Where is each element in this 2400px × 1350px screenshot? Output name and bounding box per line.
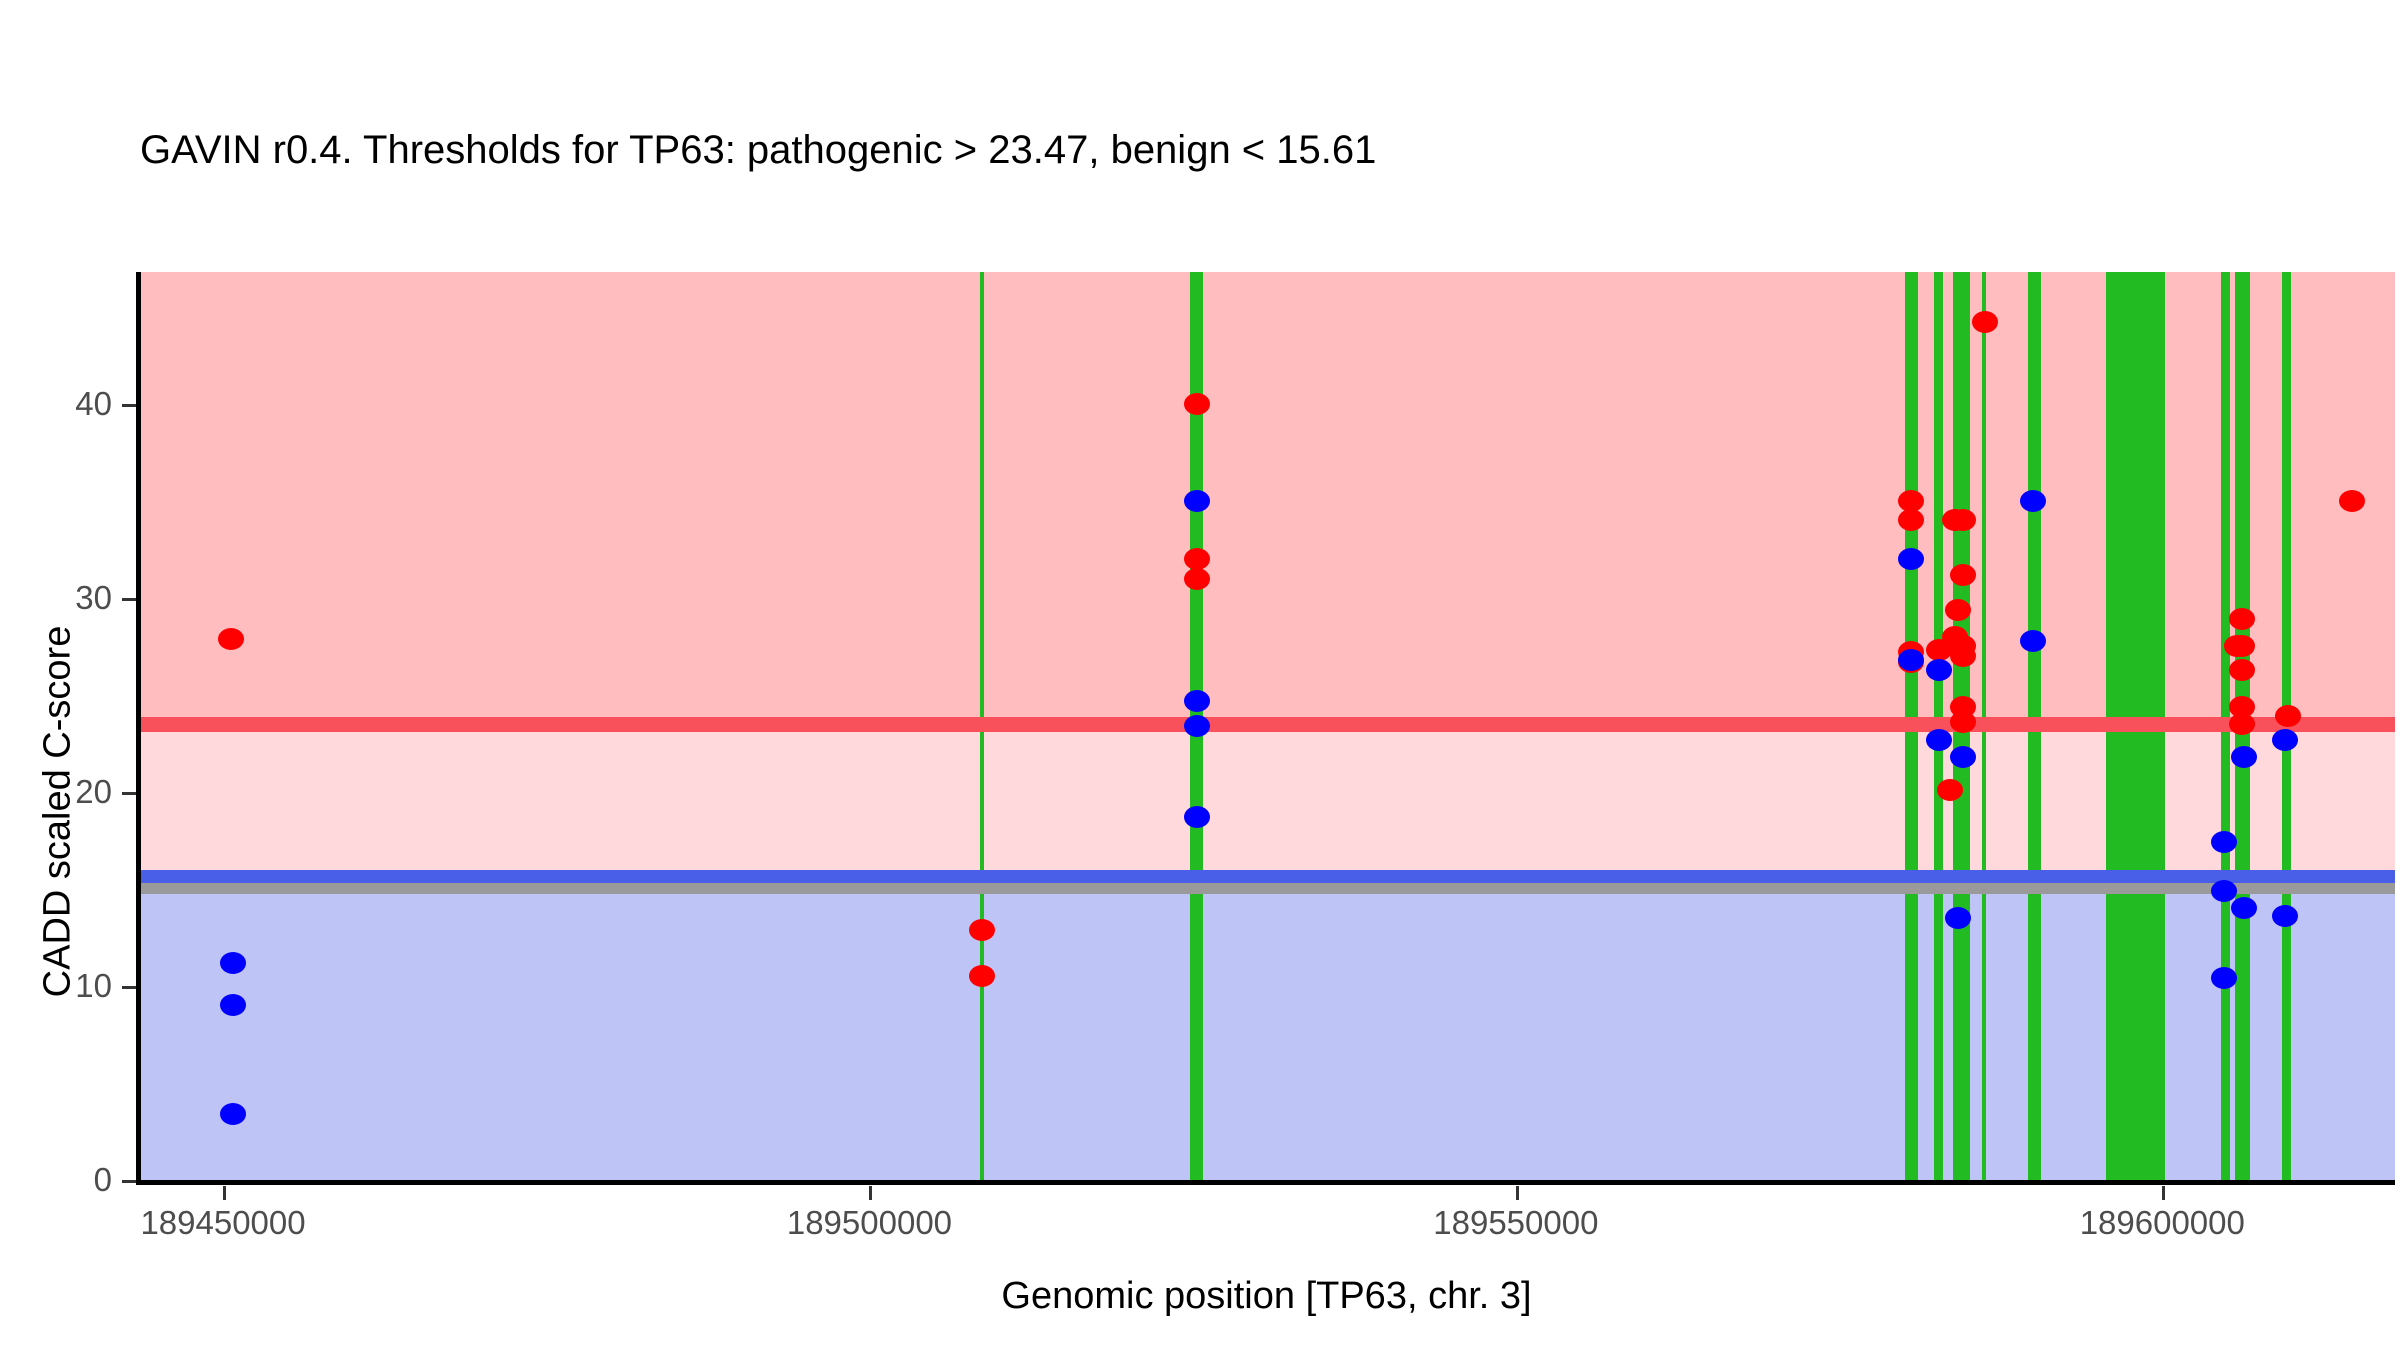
y-axis-tick — [122, 404, 136, 407]
benign-variant-point — [2020, 630, 2046, 652]
pathogenic-variant-point — [2229, 659, 2255, 681]
benign-variant-point — [2272, 905, 2298, 927]
benign-variant-point — [2231, 897, 2257, 919]
pathogenic-variant-point — [2339, 490, 2365, 512]
benign-threshold-line — [139, 870, 2395, 885]
x-axis-tick — [869, 1186, 872, 1200]
x-axis-tick-label: 189550000 — [1433, 1204, 1598, 1242]
x-axis-tick-label: 189450000 — [140, 1204, 305, 1242]
benign-variant-point — [220, 1103, 246, 1125]
plot-panel — [139, 272, 2395, 1180]
pathogenic-variant-point — [969, 919, 995, 941]
x-axis-tick-label: 189600000 — [2080, 1204, 2245, 1242]
benign-zone — [139, 877, 2395, 1180]
y-axis-tick — [122, 792, 136, 795]
pathogenic-variant-point — [1184, 393, 1210, 415]
benign-variant-point — [1184, 715, 1210, 737]
x-axis-tick-label: 189500000 — [787, 1204, 952, 1242]
pathogenic-variant-point — [1950, 564, 1976, 586]
benign-variant-point — [1926, 659, 1952, 681]
benign-variant-point — [2211, 831, 2237, 853]
benign-variant-point — [1898, 649, 1924, 671]
benign-variant-point — [220, 952, 246, 974]
gavin-cadd-scatter-figure: GAVIN r0.4. Thresholds for TP63: pathoge… — [0, 0, 2400, 1350]
pathogenic-variant-point — [1972, 311, 1998, 333]
pathogenic-variant-point — [969, 965, 995, 987]
pathogenic-variant-point — [1937, 779, 1963, 801]
benign-variant-point — [2020, 490, 2046, 512]
x-axis-tick — [223, 1186, 226, 1200]
pathogenic-variant-point — [2229, 635, 2255, 657]
pathogenic-variant-point — [1950, 509, 1976, 531]
pathogenic-zone — [139, 272, 2395, 725]
vus-zone — [139, 725, 2395, 877]
pathogenic-variant-point — [1950, 711, 1976, 733]
pathogenic-variant-point — [2229, 608, 2255, 630]
fallback-threshold-line — [139, 883, 2395, 894]
benign-variant-point — [2272, 729, 2298, 751]
benign-variant-point — [1184, 490, 1210, 512]
x-axis-title: Genomic position [TP63, chr. 3] — [139, 1275, 2394, 1318]
y-axis-title: CADD scaled C-score — [37, 424, 80, 1200]
pathogenic-variant-point — [1898, 509, 1924, 531]
pathogenic-variant-point — [1945, 599, 1971, 621]
pathogenic-variant-point — [2229, 713, 2255, 735]
benign-variant-point — [1898, 548, 1924, 570]
y-axis-tick — [122, 598, 136, 601]
x-axis-tick — [1516, 1186, 1519, 1200]
plot-title-line-1: GAVIN r0.4. Thresholds for TP63: pathoge… — [140, 122, 1413, 179]
benign-variant-point — [220, 994, 246, 1016]
benign-variant-point — [2231, 746, 2257, 768]
benign-variant-point — [1184, 806, 1210, 828]
benign-variant-point — [1926, 729, 1952, 751]
benign-variant-point — [2211, 967, 2237, 989]
y-axis-line — [136, 272, 141, 1185]
benign-variant-point — [1945, 907, 1971, 929]
y-axis-tick-label: 40 — [0, 385, 112, 423]
x-axis-tick — [2162, 1186, 2165, 1200]
pathogenic-variant-point — [1184, 568, 1210, 590]
benign-variant-point — [1184, 690, 1210, 712]
pathogenic-variant-point — [1950, 645, 1976, 667]
x-axis-line — [139, 1180, 2395, 1185]
pathogenic-variant-point — [2275, 705, 2301, 727]
y-axis-tick — [122, 1180, 136, 1183]
pathogenic-variant-point — [218, 628, 244, 650]
benign-variant-point — [1950, 746, 1976, 768]
pathogenic-threshold-line — [139, 717, 2395, 732]
y-axis-tick — [122, 986, 136, 989]
benign-variant-point — [2211, 880, 2237, 902]
